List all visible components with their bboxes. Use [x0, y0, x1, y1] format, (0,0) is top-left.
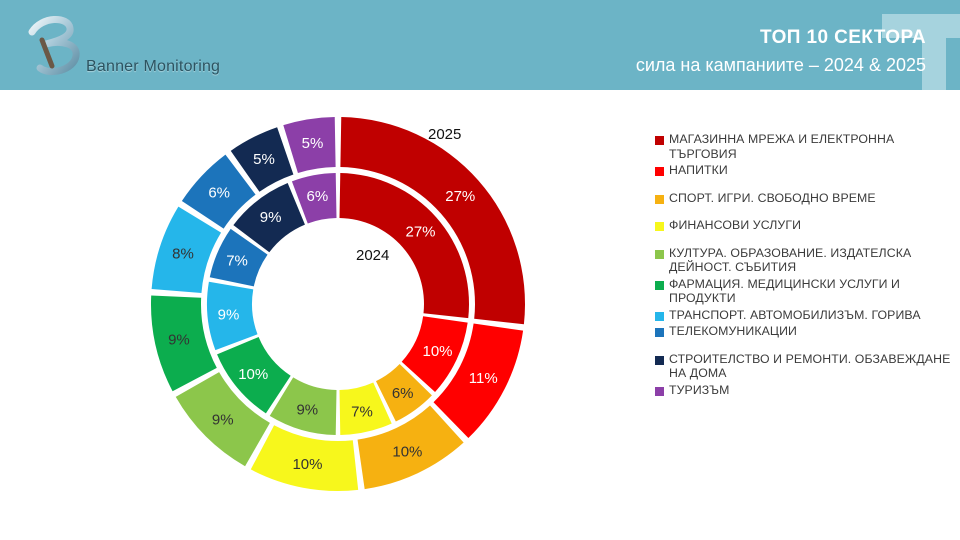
legend-swatch-icon	[655, 136, 664, 145]
legend-item-label: ФИНАНСОВИ УСЛУГИ	[669, 218, 801, 233]
donut-slice-label: 5%	[302, 135, 324, 152]
page-title: ТОП 10 СЕКТОРА	[636, 26, 926, 50]
legend-item-label: МАГАЗИННА МРЕЖА И ЕЛЕКТРОННА ТЪРГОВИЯ	[669, 132, 955, 161]
donut-slice-label: 7%	[351, 403, 373, 420]
donut-slice-label: 9%	[212, 411, 234, 428]
legend-swatch-icon	[655, 250, 664, 259]
donut-slice-label: 8%	[172, 246, 194, 263]
legend-swatch-icon	[655, 312, 664, 321]
slide-header: Banner Monitoring ТОП 10 СЕКТОРА сила на…	[0, 0, 960, 90]
legend-item-label: ТУРИЗЪМ	[669, 383, 729, 398]
legend-item[interactable]: ТРАНСПОРТ. АВТОМОБИЛИЗЪМ. ГОРИВА	[655, 308, 955, 323]
donut-slice-label: 7%	[226, 252, 248, 269]
legend-swatch-icon	[655, 356, 664, 365]
donut-slice-label: 11%	[469, 370, 498, 387]
donut-slice-label: 9%	[218, 306, 240, 323]
legend-swatch-icon	[655, 195, 664, 204]
donut-slice-label: 27%	[445, 188, 475, 205]
legend-item[interactable]: СТРОИТЕЛСТВО И РЕМОНТИ. ОБЗАВЕЖДАНЕ НА Д…	[655, 352, 955, 381]
donut-slice-label: 9%	[260, 209, 282, 226]
logo-text: Banner Monitoring	[86, 58, 220, 76]
legend-item[interactable]: ТУРИЗЪМ	[655, 383, 955, 398]
legend-item-label: ТРАНСПОРТ. АВТОМОБИЛИЗЪМ. ГОРИВА	[669, 308, 921, 323]
donut-slice-label: 10%	[423, 343, 453, 360]
legend-item-label: СТРОИТЕЛСТВО И РЕМОНТИ. ОБЗАВЕЖДАНЕ НА Д…	[669, 352, 955, 381]
banner-monitoring-b-logo-icon	[22, 10, 92, 80]
legend-item-label: НАПИТКИ	[669, 163, 728, 178]
chart-legend: МАГАЗИННА МРЕЖА И ЕЛЕКТРОННА ТЪРГОВИЯНАП…	[655, 132, 955, 399]
donut-slice-label: 5%	[253, 151, 275, 168]
legend-swatch-icon	[655, 222, 664, 231]
legend-item[interactable]: ФИНАНСОВИ УСЛУГИ	[655, 218, 955, 233]
nested-donut-chart: 27%11%10%10%9%9%8%6%5%5%27%10%6%7%9%10%9…	[148, 114, 528, 494]
donut-ring-2024: 27%10%6%7%9%10%9%7%9%6%	[207, 173, 469, 435]
donut-slice-label: 10%	[392, 443, 422, 460]
legend-item-label: КУЛТУРА. ОБРАЗОВАНИЕ. ИЗДАТЕЛСКА ДЕЙНОСТ…	[669, 246, 955, 275]
legend-swatch-icon	[655, 281, 664, 290]
legend-item[interactable]: МАГАЗИННА МРЕЖА И ЕЛЕКТРОННА ТЪРГОВИЯ	[655, 132, 955, 161]
legend-item[interactable]: СПОРТ. ИГРИ. СВОБОДНО ВРЕМЕ	[655, 191, 955, 206]
donut-slice-label: 9%	[296, 402, 318, 419]
page-subtitle: сила на кампаниите – 2024 & 2025	[636, 52, 926, 78]
donut-slice-label: 10%	[238, 366, 268, 383]
legend-swatch-icon	[655, 328, 664, 337]
donut-slice-label: 10%	[292, 456, 322, 473]
legend-item[interactable]: КУЛТУРА. ОБРАЗОВАНИЕ. ИЗДАТЕЛСКА ДЕЙНОСТ…	[655, 246, 955, 275]
header-titles: ТОП 10 СЕКТОРА сила на кампаниите – 2024…	[636, 26, 926, 78]
outer-ring-year-label: 2025	[428, 126, 461, 143]
donut-slice-label: 6%	[392, 385, 414, 402]
logo: Banner Monitoring	[18, 8, 258, 84]
inner-ring-year-label: 2024	[356, 247, 389, 264]
legend-item-label: ФАРМАЦИЯ. МЕДИЦИНСКИ УСЛУГИ И ПРОДУКТИ	[669, 277, 955, 306]
donut-slice-label: 6%	[307, 188, 329, 205]
legend-swatch-icon	[655, 167, 664, 176]
slide-canvas: Banner Monitoring ТОП 10 СЕКТОРА сила на…	[0, 0, 960, 540]
donut-slice-label: 9%	[168, 332, 190, 349]
legend-swatch-icon	[655, 387, 664, 396]
donut-slice-label: 27%	[405, 223, 435, 240]
legend-item[interactable]: ФАРМАЦИЯ. МЕДИЦИНСКИ УСЛУГИ И ПРОДУКТИ	[655, 277, 955, 306]
legend-item-label: СПОРТ. ИГРИ. СВОБОДНО ВРЕМЕ	[669, 191, 876, 206]
legend-item[interactable]: НАПИТКИ	[655, 163, 955, 178]
legend-item[interactable]: ТЕЛЕКОМУНИКАЦИИ	[655, 324, 955, 339]
legend-item-label: ТЕЛЕКОМУНИКАЦИИ	[669, 324, 797, 339]
donut-slice-label: 6%	[208, 184, 230, 201]
